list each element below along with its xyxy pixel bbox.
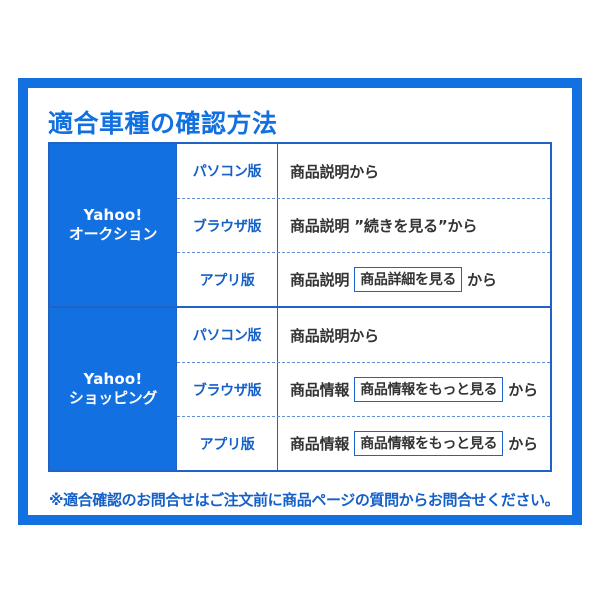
- description-cell: 商品説明から: [277, 144, 550, 198]
- description-cell: 商品情報 商品情報をもっと見る から: [277, 363, 550, 416]
- version-label: アプリ版: [177, 253, 277, 306]
- rows-group-auction: パソコン版 商品説明から ブラウザ版 商品説明 ”続きを見る”から: [176, 144, 550, 306]
- table-row: パソコン版 商品説明から: [177, 308, 550, 362]
- description-text-before: 商品説明から: [290, 161, 379, 182]
- footer-note: ※適合確認のお問合せはご注文前に商品ページの質問からお問合せください。: [49, 489, 559, 510]
- table-row: パソコン版 商品説明から: [177, 144, 550, 198]
- brand-cell-auction: Yahoo! オークション: [50, 144, 176, 306]
- verification-table: Yahoo! オークション パソコン版 商品説明から ブラウザ版: [48, 142, 552, 472]
- frame-inner-panel: 適合車種の確認方法 Yahoo! オークション パソコン版 商品説明から: [28, 88, 572, 515]
- ui-button-reference: 商品情報をもっと見る: [354, 377, 503, 402]
- table-row: ブラウザ版 商品説明 ”続きを見る”から: [177, 198, 550, 252]
- brand-label-line1: Yahoo!: [84, 370, 143, 389]
- description-cell: 商品説明 ”続きを見る”から: [277, 199, 550, 252]
- table-block-auction: Yahoo! オークション パソコン版 商品説明から ブラウザ版: [50, 144, 550, 306]
- brand-label-line1: Yahoo!: [84, 206, 143, 225]
- description-text-after: から: [508, 379, 538, 400]
- table-row: ブラウザ版 商品情報 商品情報をもっと見る から: [177, 362, 550, 416]
- ui-button-reference: 商品詳細を見る: [354, 267, 462, 292]
- description-text-after: から: [508, 433, 538, 454]
- table-block-shopping: Yahoo! ショッピング パソコン版 商品説明から ブラウザ版: [50, 306, 550, 470]
- description-cell: 商品情報 商品情報をもっと見る から: [277, 417, 550, 470]
- brand-label-line2: ショッピング: [69, 389, 157, 408]
- version-label: パソコン版: [177, 308, 277, 362]
- description-text-before: 商品情報: [290, 433, 349, 454]
- version-label: ブラウザ版: [177, 199, 277, 252]
- infographic-screen: 適合車種の確認方法 Yahoo! オークション パソコン版 商品説明から: [0, 0, 600, 600]
- description-text-before: 商品説明: [290, 269, 349, 290]
- version-label: アプリ版: [177, 417, 277, 470]
- description-cell: 商品説明から: [277, 308, 550, 362]
- description-text-before: 商品説明から: [290, 325, 379, 346]
- blue-frame-border: 適合車種の確認方法 Yahoo! オークション パソコン版 商品説明から: [18, 78, 582, 525]
- page-title: 適合車種の確認方法: [48, 104, 278, 140]
- version-label: ブラウザ版: [177, 363, 277, 416]
- ui-button-reference: 商品情報をもっと見る: [354, 431, 503, 456]
- brand-cell-shopping: Yahoo! ショッピング: [50, 308, 176, 470]
- brand-label-line2: オークション: [69, 225, 157, 244]
- version-label: パソコン版: [177, 144, 277, 198]
- table-row: アプリ版 商品説明 商品詳細を見る から: [177, 252, 550, 306]
- description-text-after: から: [467, 269, 497, 290]
- rows-group-shopping: パソコン版 商品説明から ブラウザ版 商品情報 商品情報をもっと見る から: [176, 308, 550, 470]
- table-row: アプリ版 商品情報 商品情報をもっと見る から: [177, 416, 550, 470]
- description-text-before: 商品説明 ”続きを見る”から: [290, 215, 477, 236]
- description-cell: 商品説明 商品詳細を見る から: [277, 253, 550, 306]
- description-text-before: 商品情報: [290, 379, 349, 400]
